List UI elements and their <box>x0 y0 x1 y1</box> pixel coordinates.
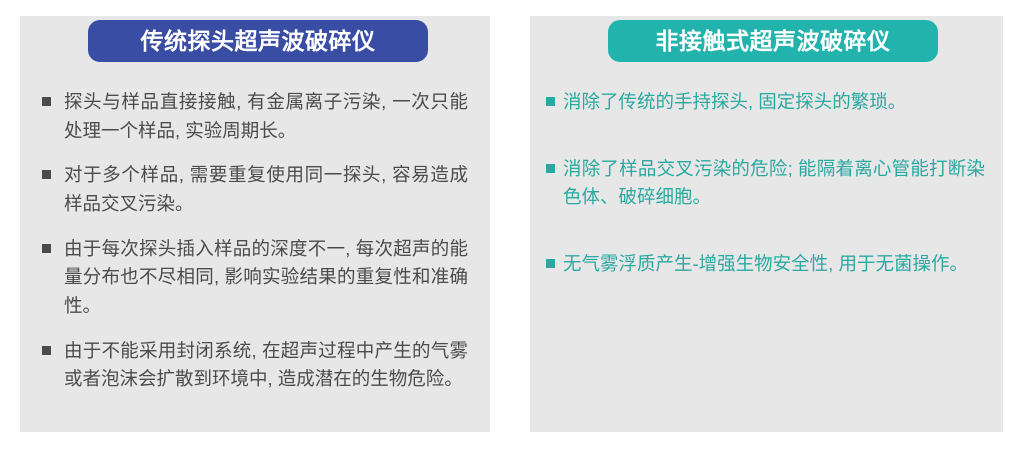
square-bullet-icon <box>546 97 555 106</box>
list-item: 对于多个样品, 需要重复使用同一探头, 容易造成样品交叉污染。 <box>20 161 490 218</box>
panel-non-contact: 非接触式超声波破碎仪 消除了传统的手持探头, 固定探头的繁琐。 消除了样品交叉污… <box>530 16 1003 432</box>
panel-title-non-contact: 非接触式超声波破碎仪 <box>656 30 891 53</box>
list-item: 由于不能采用封闭系统, 在超声过程中产生的气雾或者泡沫会扩散到环境中, 造成潜在… <box>20 337 490 394</box>
list-item-text: 由于每次探头插入样品的深度不一, 每次超声的能量分布也不尽相同, 影响实验结果的… <box>64 235 468 321</box>
list-item-text: 由于不能采用封闭系统, 在超声过程中产生的气雾或者泡沫会扩散到环境中, 造成潜在… <box>64 337 468 394</box>
panel-header-traditional-probe: 传统探头超声波破碎仪 <box>88 20 428 62</box>
list-item: 消除了样品交叉污染的危险; 能隔着离心管能打断染色体、破碎细胞。 <box>530 155 1003 212</box>
list-item-text: 消除了传统的手持探头, 固定探头的繁琐。 <box>563 88 985 117</box>
panel-header-non-contact: 非接触式超声波破碎仪 <box>608 20 938 62</box>
square-bullet-icon <box>42 244 51 253</box>
list-item-text: 对于多个样品, 需要重复使用同一探头, 容易造成样品交叉污染。 <box>64 161 468 218</box>
panel-traditional-probe: 传统探头超声波破碎仪 探头与样品直接接触, 有金属离子污染, 一次只能处理一个样… <box>20 16 490 432</box>
square-bullet-icon <box>42 346 51 355</box>
bullet-list-traditional-probe: 探头与样品直接接触, 有金属离子污染, 一次只能处理一个样品, 实验周期长。 对… <box>20 88 490 410</box>
list-item-text: 无气雾浮质产生-增强生物安全性, 用于无菌操作。 <box>563 250 985 279</box>
square-bullet-icon <box>42 170 51 179</box>
list-item: 无气雾浮质产生-增强生物安全性, 用于无菌操作。 <box>530 250 1003 279</box>
list-item: 由于每次探头插入样品的深度不一, 每次超声的能量分布也不尽相同, 影响实验结果的… <box>20 235 490 321</box>
bullet-list-non-contact: 消除了传统的手持探头, 固定探头的繁琐。 消除了样品交叉污染的危险; 能隔着离心… <box>530 88 1003 317</box>
panel-title-traditional-probe: 传统探头超声波破碎仪 <box>141 30 376 53</box>
comparison-panels-root: 传统探头超声波破碎仪 探头与样品直接接触, 有金属离子污染, 一次只能处理一个样… <box>0 0 1024 456</box>
list-item-text: 消除了样品交叉污染的危险; 能隔着离心管能打断染色体、破碎细胞。 <box>563 155 985 212</box>
list-item: 消除了传统的手持探头, 固定探头的繁琐。 <box>530 88 1003 117</box>
square-bullet-icon <box>42 97 51 106</box>
square-bullet-icon <box>546 164 555 173</box>
list-item: 探头与样品直接接触, 有金属离子污染, 一次只能处理一个样品, 实验周期长。 <box>20 88 490 145</box>
square-bullet-icon <box>546 259 555 268</box>
list-item-text: 探头与样品直接接触, 有金属离子污染, 一次只能处理一个样品, 实验周期长。 <box>64 88 468 145</box>
